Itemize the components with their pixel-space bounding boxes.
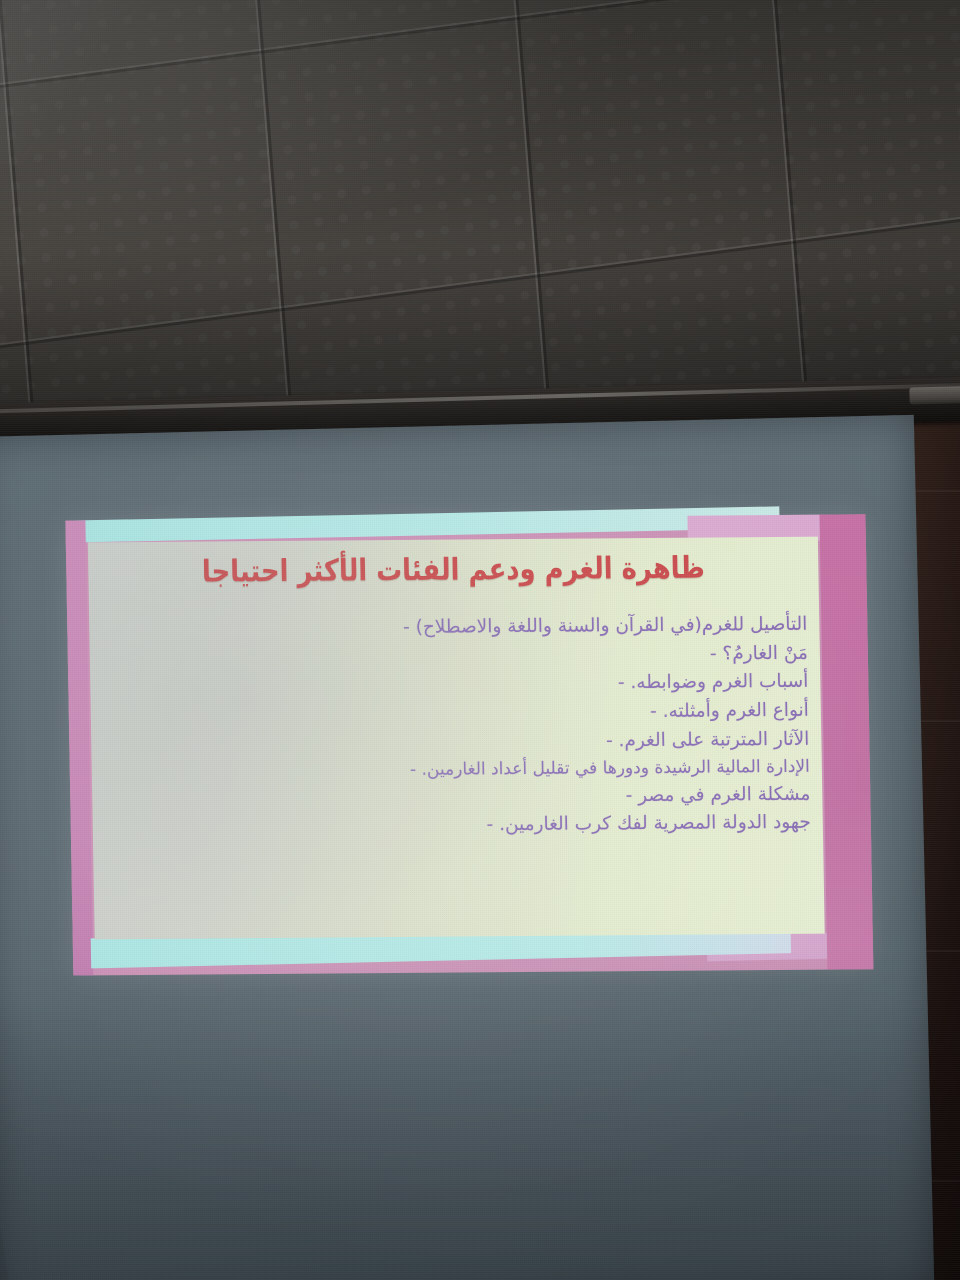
bullet-dash: - bbox=[486, 812, 493, 841]
bullet-text: الإدارة المالية الرشيدة ودورها في تقليل … bbox=[421, 754, 810, 783]
bullet-text: مشكلة الغرم في مصر bbox=[638, 780, 811, 810]
projected-slide: ظاهرة الغرم ودعم الفئات الأكثر احتياجا ا… bbox=[65, 514, 873, 975]
bullet-text: مَنْ الغارمُ؟ bbox=[722, 639, 808, 668]
bullet-dash: - bbox=[606, 727, 613, 756]
slide-bullet-list: التأصيل للغرم(في القرآن والسنة واللغة وا… bbox=[99, 611, 811, 844]
slide-title: ظاهرة الغرم ودعم الفئات الأكثر احتياجا bbox=[139, 551, 767, 589]
valance-end-cap bbox=[909, 386, 960, 405]
bullet-dash: - bbox=[625, 782, 632, 811]
bullet-dash: - bbox=[650, 698, 657, 727]
bullet-dash: - bbox=[410, 757, 417, 783]
slide-frame-pink-right bbox=[819, 514, 873, 969]
bullet-text: الآثار المترتبة على الغرم. bbox=[618, 725, 809, 755]
slide-content-panel: ظاهرة الغرم ودعم الفئات الأكثر احتياجا ا… bbox=[88, 537, 825, 940]
list-item: جهود الدولة المصرية لفك كرب الغارمين. - bbox=[103, 809, 812, 843]
bullet-text: التأصيل للغرم(في القرآن والسنة واللغة وا… bbox=[415, 611, 807, 643]
bullet-text: جهود الدولة المصرية لفك كرب الغارمين. bbox=[499, 809, 811, 840]
photo-scene: ظاهرة الغرم ودعم الفئات الأكثر احتياجا ا… bbox=[0, 0, 960, 1280]
bullet-dash: - bbox=[710, 640, 717, 669]
bullet-dash: - bbox=[618, 670, 625, 699]
projector-screen: ظاهرة الغرم ودعم الفئات الأكثر احتياجا ا… bbox=[0, 415, 934, 1280]
bullet-text: أسباب الغرم وضوابطه. bbox=[630, 668, 808, 698]
bullet-text: أنواع الغرم وأمثلته. bbox=[662, 697, 809, 727]
bullet-dash: - bbox=[403, 614, 410, 643]
